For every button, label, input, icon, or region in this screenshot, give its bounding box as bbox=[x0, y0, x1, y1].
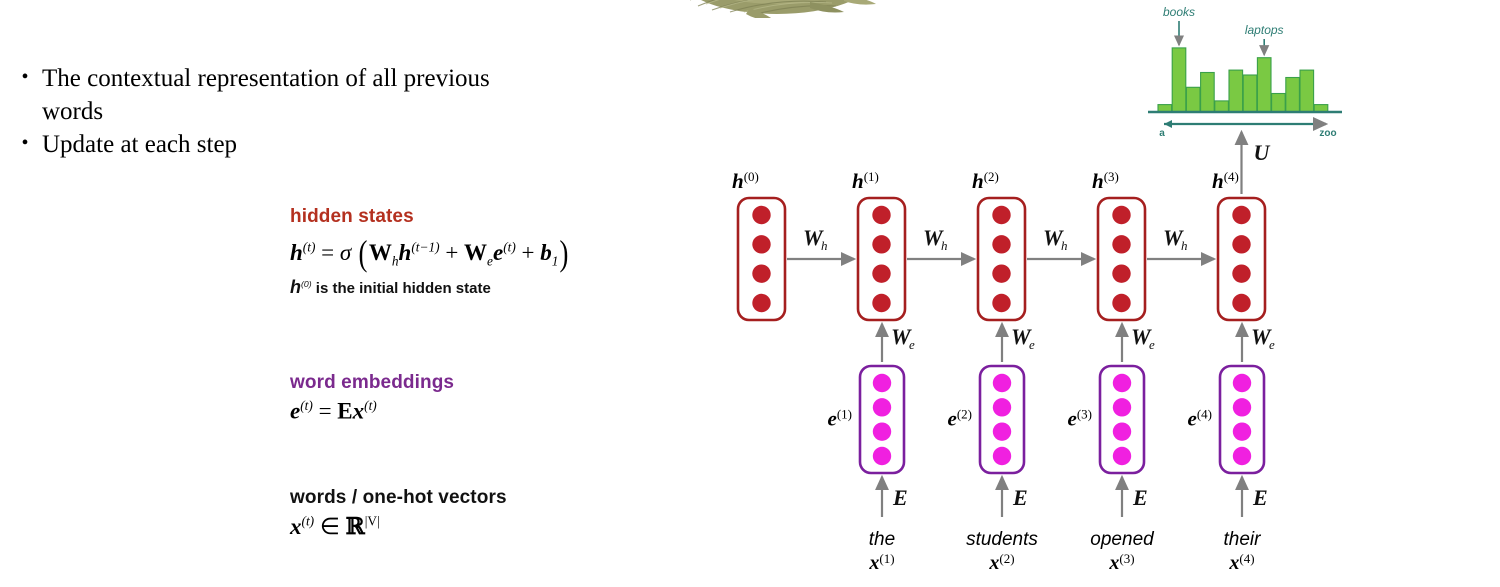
input-word: students bbox=[966, 529, 1038, 550]
distribution-bar bbox=[1186, 87, 1200, 112]
distribution-annotations: bookslaptops bbox=[1163, 5, 1284, 55]
oh-in: ∈ bbox=[320, 514, 340, 539]
distribution-bar bbox=[1300, 70, 1314, 112]
we-E: E bbox=[337, 399, 352, 424]
unit-node bbox=[1112, 294, 1130, 312]
distribution-word-label: books bbox=[1163, 5, 1195, 19]
one-hot-formula: x(t) ∈ ℝ|V| bbox=[290, 513, 640, 540]
hidden-states-formula: h(t) = σ (Whh(t−1) + Wee(t) + b1) bbox=[290, 232, 640, 274]
embed-weight-subscript: e bbox=[1149, 337, 1155, 352]
unit-node bbox=[1112, 264, 1130, 282]
hidden-state-label: h(2) bbox=[972, 169, 999, 193]
formula-paren-close: ) bbox=[560, 232, 569, 274]
distribution-bars bbox=[1158, 48, 1328, 112]
bullet-marker-icon: • bbox=[8, 128, 42, 158]
unit-node bbox=[872, 264, 890, 282]
one-hot-equation-group: words / one-hot vectors x(t) ∈ ℝ|V| bbox=[290, 487, 640, 540]
unit-node bbox=[1233, 374, 1251, 392]
output-distribution-chart: bookslaptops azoo bbox=[1140, 0, 1350, 136]
input-word: the bbox=[869, 529, 895, 550]
embedding-label: e(4) bbox=[1188, 407, 1213, 431]
unit-node bbox=[1233, 422, 1251, 440]
hidden-state-label: h(1) bbox=[852, 169, 879, 193]
distribution-bar bbox=[1215, 101, 1229, 112]
oh-R: ℝ bbox=[346, 513, 365, 540]
spacer bbox=[290, 298, 640, 372]
embedding-label: e(2) bbox=[948, 407, 973, 431]
formula-e-sup: (t) bbox=[503, 239, 516, 254]
formula-Wh: W bbox=[369, 240, 392, 265]
we-e-sup: (t) bbox=[300, 398, 313, 413]
note-tail: is the initial hidden state bbox=[316, 280, 491, 297]
unit-node bbox=[992, 235, 1010, 253]
formula-e: e bbox=[493, 240, 503, 265]
formula-plus-2: + bbox=[522, 240, 535, 265]
spacer bbox=[290, 425, 640, 487]
formula-We: W bbox=[464, 240, 487, 265]
hidden-state-label: h(0) bbox=[732, 169, 759, 193]
bullet-text: Update at each step bbox=[42, 128, 528, 161]
formula-Wh-sub: h bbox=[392, 254, 399, 269]
we-x: x bbox=[353, 399, 365, 424]
formula-sigma: σ bbox=[340, 240, 351, 265]
unit-node bbox=[872, 235, 890, 253]
we-x-sup: (t) bbox=[364, 398, 377, 413]
unit-node bbox=[1232, 294, 1250, 312]
hidden-state-label: h(3) bbox=[1092, 169, 1119, 193]
oh-R-sup: |V| bbox=[365, 513, 380, 528]
unit-node bbox=[752, 206, 770, 224]
output-weight-label: U bbox=[1254, 140, 1271, 165]
distribution-bar bbox=[1172, 48, 1186, 112]
bullet-marker-icon: • bbox=[8, 62, 42, 92]
hidden-states-caption: hidden states bbox=[290, 206, 640, 228]
unit-node bbox=[873, 398, 891, 416]
note-h: h bbox=[290, 277, 301, 297]
bullet-text: The contextual representation of all pre… bbox=[42, 62, 528, 128]
note-h-sup: (0) bbox=[301, 279, 312, 289]
formula-b-sub: 1 bbox=[552, 254, 559, 269]
unit-node bbox=[1112, 235, 1130, 253]
unit-node bbox=[1113, 374, 1131, 392]
unit-node bbox=[1232, 264, 1250, 282]
formula-equals: = bbox=[321, 240, 334, 265]
recurrent-weight-subscript: h bbox=[1181, 238, 1188, 253]
input-word-variable: x(2) bbox=[988, 551, 1014, 574]
unit-node bbox=[1113, 398, 1131, 416]
formula-h: h bbox=[290, 240, 303, 265]
embedding-matrix-label: E bbox=[1252, 485, 1268, 510]
unit-node bbox=[1232, 235, 1250, 253]
unit-node bbox=[752, 264, 770, 282]
unit-node bbox=[872, 206, 890, 224]
unit-node bbox=[1233, 447, 1251, 465]
embed-weight-subscript: e bbox=[909, 337, 915, 352]
unit-node bbox=[752, 235, 770, 253]
hidden-states-equation-group: hidden states h(t) = σ (Whh(t−1) + Wee(t… bbox=[290, 206, 640, 298]
hidden-states-note: h(0) is the initial hidden state bbox=[290, 277, 640, 298]
recurrent-weight-subscript: h bbox=[821, 238, 828, 253]
unit-node bbox=[993, 447, 1011, 465]
unit-node bbox=[993, 398, 1011, 416]
hidden-state-label: h(4) bbox=[1212, 169, 1239, 193]
embedding-matrix-label: E bbox=[1012, 485, 1028, 510]
oh-x: x bbox=[290, 514, 302, 539]
distribution-bar bbox=[1286, 78, 1300, 113]
formula-b: b bbox=[540, 240, 552, 265]
bullet-list: • The contextual representation of all p… bbox=[8, 62, 528, 161]
distribution-bar bbox=[1243, 75, 1257, 112]
unit-node bbox=[1112, 206, 1130, 224]
input-word-variable: x(1) bbox=[868, 551, 894, 574]
we-e: e bbox=[290, 399, 300, 424]
range-arrow-left-head bbox=[1164, 120, 1172, 128]
input-word: opened bbox=[1090, 529, 1155, 550]
input-word-variable: x(3) bbox=[1108, 551, 1134, 574]
word-embeddings-caption: word embeddings bbox=[290, 372, 640, 394]
distribution-bar bbox=[1229, 70, 1243, 112]
word-embeddings-equation-group: word embeddings e(t) = Ex(t) bbox=[290, 372, 640, 425]
unit-node bbox=[993, 374, 1011, 392]
embed-weight-subscript: e bbox=[1029, 337, 1035, 352]
formula-plus-1: + bbox=[445, 240, 458, 265]
formula-h-prev-sup: (t−1) bbox=[411, 239, 439, 254]
unit-node bbox=[1113, 447, 1131, 465]
unit-node bbox=[873, 447, 891, 465]
word-embeddings-formula: e(t) = Ex(t) bbox=[290, 398, 640, 425]
we-equals: = bbox=[319, 399, 332, 424]
list-item: • Update at each step bbox=[8, 128, 528, 161]
unit-node bbox=[992, 264, 1010, 282]
distribution-bar bbox=[1272, 94, 1286, 113]
unit-node bbox=[873, 422, 891, 440]
unit-node bbox=[1233, 398, 1251, 416]
one-hot-caption: words / one-hot vectors bbox=[290, 487, 640, 509]
unit-node bbox=[1232, 206, 1250, 224]
nest-illustration bbox=[660, 0, 895, 18]
formula-paren-open: ( bbox=[358, 232, 367, 274]
list-item: • The contextual representation of all p… bbox=[8, 62, 528, 128]
recurrent-weight-subscript: h bbox=[1061, 238, 1068, 253]
embedding-matrix-label: E bbox=[892, 485, 908, 510]
formula-h-sup: (t) bbox=[303, 239, 316, 254]
embedding-label: e(1) bbox=[828, 407, 853, 431]
distribution-bar bbox=[1257, 58, 1271, 112]
input-word: their bbox=[1224, 529, 1262, 550]
distribution-bar bbox=[1201, 73, 1215, 113]
embed-weight-subscript: e bbox=[1269, 337, 1275, 352]
unit-node bbox=[992, 294, 1010, 312]
recurrent-weight-subscript: h bbox=[941, 238, 948, 253]
embedding-matrix-label: E bbox=[1132, 485, 1148, 510]
unit-node bbox=[993, 422, 1011, 440]
unit-node bbox=[873, 374, 891, 392]
unit-node bbox=[1113, 422, 1131, 440]
rnn-diagram: WhWhWhWhWeEe(1)thex(1)WeEe(2)studentsx(2… bbox=[700, 130, 1500, 587]
oh-x-sup: (t) bbox=[302, 513, 315, 528]
input-word-variable: x(4) bbox=[1228, 551, 1254, 574]
unit-node bbox=[992, 206, 1010, 224]
formula-h-prev: h bbox=[399, 240, 412, 265]
unit-node bbox=[872, 294, 890, 312]
embedding-label: e(3) bbox=[1068, 407, 1093, 431]
equation-block: hidden states h(t) = σ (Whh(t−1) + Wee(t… bbox=[290, 206, 640, 540]
distribution-word-label: laptops bbox=[1245, 23, 1284, 37]
unit-node bbox=[752, 294, 770, 312]
